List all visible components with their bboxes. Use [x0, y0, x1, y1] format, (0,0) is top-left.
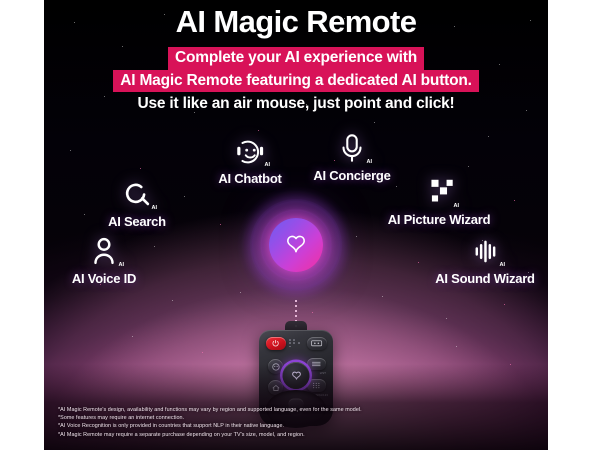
- star-speck: [356, 236, 357, 237]
- pixel-grid-icon: AI: [420, 176, 458, 210]
- remote-power-button[interactable]: [266, 337, 286, 350]
- ai-infinity-heart-icon: [281, 230, 311, 260]
- orb-core: [269, 218, 323, 272]
- promo-banner: AI Magic Remote Complete your AI experie…: [0, 0, 600, 450]
- star-speck: [504, 304, 505, 305]
- footnote-3: *AI Voice Recognition is only provided i…: [58, 422, 528, 430]
- ai-orb: [237, 186, 355, 304]
- feature-label: AI Sound Wizard: [420, 271, 548, 286]
- subtitle-line-3: Use it like an air mouse, just point and…: [44, 92, 548, 112]
- feature-ai-chatbot: AI AI Chatbot: [200, 135, 300, 186]
- footnote-1: *AI Magic Remote's design, availability …: [58, 406, 528, 414]
- chatbot-headset-icon: AI: [231, 135, 269, 169]
- feature-ai-sound-wizard: AI AI Sound Wizard: [420, 235, 548, 286]
- magnifier-icon: AI: [118, 178, 156, 212]
- star-speck: [382, 296, 383, 297]
- star-speck: [172, 300, 173, 301]
- feature-label: AI Picture Wizard: [374, 212, 504, 227]
- subtitle-line-1: Complete your AI experience with: [44, 47, 548, 70]
- star-speck: [456, 346, 457, 347]
- footnotes: *AI Magic Remote's design, availability …: [58, 406, 528, 439]
- star-speck: [446, 318, 447, 319]
- ai-badge: AI: [152, 205, 158, 211]
- subtitle-block: Complete your AI experience with AI Magi…: [44, 47, 548, 112]
- star-speck: [140, 168, 141, 169]
- ai-badge: AI: [500, 262, 506, 268]
- feature-ai-voice-id: AI AI Voice ID: [44, 235, 164, 286]
- ai-badge: AI: [454, 203, 460, 209]
- feature-ai-search: AI AI Search: [82, 178, 192, 229]
- star-speck: [220, 224, 221, 225]
- star-speck: [468, 166, 469, 167]
- content-panel: AI Magic Remote Complete your AI experie…: [44, 0, 548, 450]
- star-speck: [418, 262, 419, 263]
- ai-badge: AI: [119, 262, 125, 268]
- ai-badge: AI: [265, 162, 271, 168]
- microphone-icon: AI: [333, 132, 371, 166]
- subtitle-highlight-2: AI Magic Remote featuring a dedicated AI…: [113, 70, 479, 93]
- star-speck: [514, 200, 515, 201]
- star-speck: [70, 150, 71, 151]
- subtitle-line-2: AI Magic Remote featuring a dedicated AI…: [44, 70, 548, 93]
- star-speck: [374, 122, 375, 123]
- footnote-2: *Some features may require an internet c…: [58, 414, 528, 422]
- ai-badge: AI: [367, 159, 373, 165]
- star-speck: [194, 112, 195, 113]
- star-speck: [258, 130, 259, 131]
- star-speck: [488, 136, 489, 137]
- star-speck: [312, 312, 313, 313]
- subtitle-highlight-1: Complete your AI experience with: [168, 47, 424, 70]
- subtitle-plain-3: Use it like an air mouse, just point and…: [137, 92, 454, 112]
- sound-wave-icon: AI: [466, 235, 504, 269]
- page-title: AI Magic Remote: [44, 4, 548, 40]
- remote-input-button[interactable]: [307, 337, 327, 350]
- remote-mic-holes: [289, 339, 301, 348]
- feature-label: AI Search: [82, 214, 192, 229]
- star-speck: [132, 336, 133, 337]
- star-speck: [202, 352, 203, 353]
- feature-label: AI Chatbot: [200, 171, 300, 186]
- feature-ai-picture-wizard: AI AI Picture Wizard: [374, 176, 504, 227]
- footnote-4: *AI Magic Remote may require a separate …: [58, 431, 528, 439]
- person-icon: AI: [85, 235, 123, 269]
- feature-label: AI Voice ID: [44, 271, 164, 286]
